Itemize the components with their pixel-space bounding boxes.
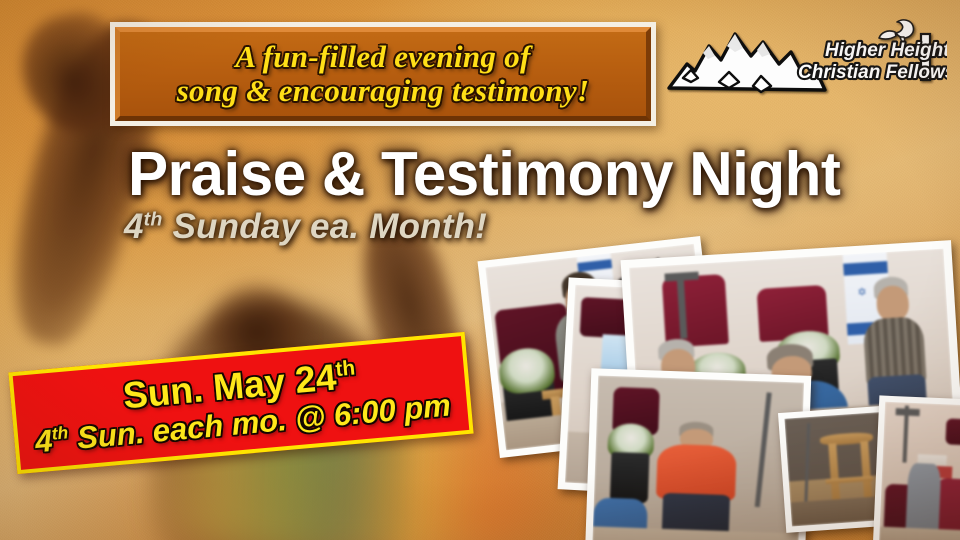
- subtitle-ordinal: th: [144, 208, 163, 230]
- logo-line-2: Christian Fellowship: [798, 62, 947, 83]
- photo-scene: [879, 402, 960, 540]
- poster-canvas: A fun-filled evening of song & encouragi…: [0, 0, 960, 540]
- page-title: Praise & Testimony Night: [128, 139, 840, 210]
- collage-photo-4[interactable]: [585, 368, 812, 540]
- photo-scene: [592, 375, 804, 540]
- logo-wordmark: Higher Heights Christian Fellowship: [798, 40, 947, 83]
- photo-frame: [879, 402, 960, 540]
- collage-photo-6[interactable]: [873, 395, 960, 540]
- tagline-line-1: A fun-filled evening of: [235, 41, 530, 73]
- event-date-ordinal: th: [335, 356, 357, 381]
- subtitle-number: 4: [124, 207, 144, 246]
- subtitle-rest: Sunday ea. Month!: [163, 207, 487, 246]
- tagline-banner-inner: A fun-filled evening of song & encouragi…: [115, 27, 651, 121]
- tagline-line-2: song & encouraging testimony!: [177, 75, 590, 107]
- church-logo: Higher Heights Christian Fellowship: [665, 16, 947, 104]
- event-recurrence-ordinal: th: [51, 422, 69, 443]
- photo-frame: [592, 375, 804, 540]
- page-subtitle: 4th Sunday ea. Month!: [124, 207, 487, 247]
- tagline-banner: A fun-filled evening of song & encouragi…: [110, 22, 656, 126]
- logo-line-1: Higher Heights: [825, 40, 947, 61]
